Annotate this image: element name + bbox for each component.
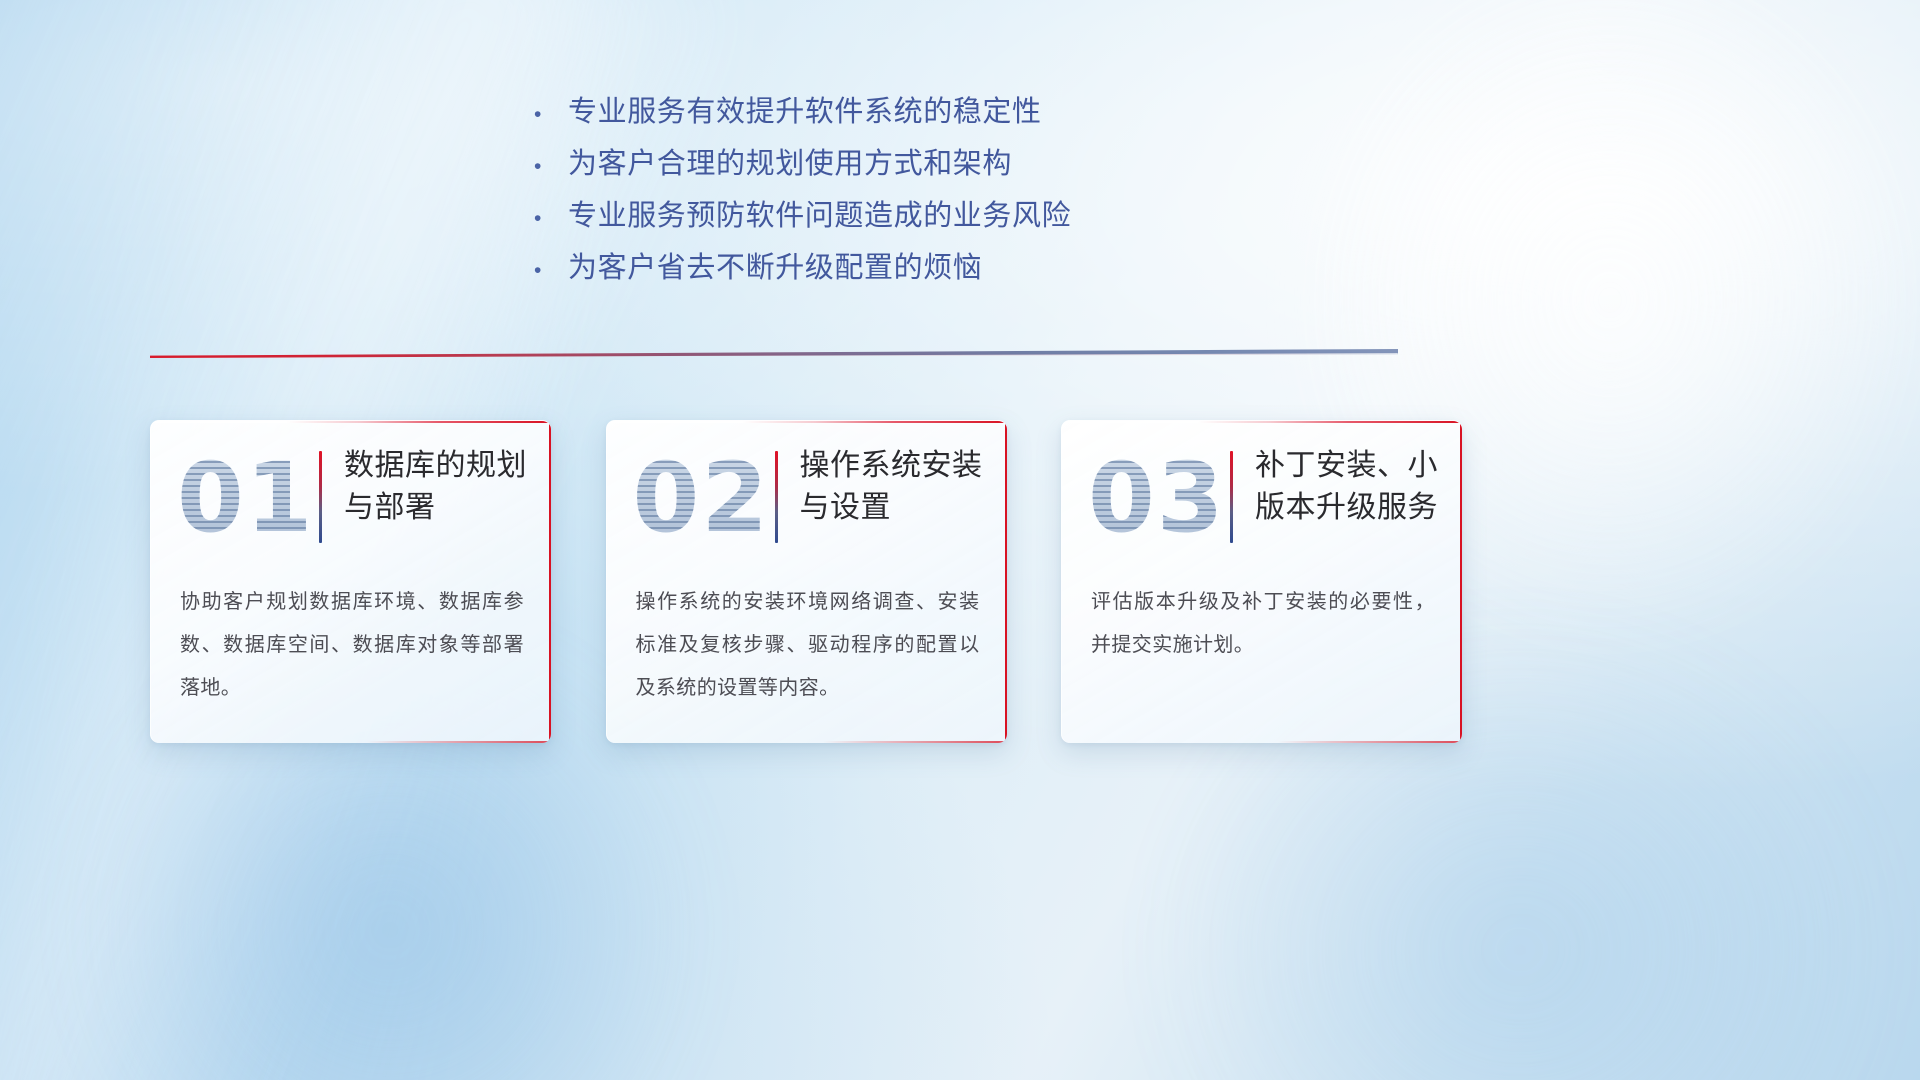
section-divider	[150, 349, 1398, 358]
card-title: 操作系统安装与设置	[800, 445, 991, 529]
card-header: 02 操作系统安装与设置	[607, 421, 1007, 573]
list-item: • 专业服务预防软件问题造成的业务风险	[534, 192, 1394, 244]
card-bottom-accent	[823, 741, 1007, 743]
bullet-point-icon: •	[534, 260, 568, 281]
bullet-point-icon: •	[534, 104, 568, 125]
list-item: • 为客户省去不断升级配置的烦恼	[534, 244, 1394, 296]
card-description: 操作系统的安装环境网络调查、安装标准及复核步骤、驱动程序的配置以及系统的设置等内…	[636, 581, 980, 710]
list-item-label: 专业服务预防软件问题造成的业务风险	[568, 192, 1071, 234]
card-title-accent-bar	[775, 451, 778, 543]
card-bottom-accent	[1278, 741, 1462, 743]
card-header: 03 补丁安装、小版本升级服务	[1062, 421, 1462, 573]
card-title-wrap: 操作系统安装与设置	[775, 445, 991, 543]
card-header: 01 数据库的规划与部署	[151, 421, 551, 573]
card-number-watermark: 01	[177, 443, 315, 553]
list-item: • 专业服务有效提升软件系统的稳定性	[534, 88, 1394, 140]
divider-line	[150, 349, 1398, 358]
bullet-point-icon: •	[534, 156, 568, 177]
card-title-accent-bar	[319, 451, 322, 543]
card-title-accent-bar	[1230, 451, 1233, 543]
card-title-wrap: 补丁安装、小版本升级服务	[1230, 445, 1446, 543]
list-item-label: 为客户合理的规划使用方式和架构	[568, 140, 1012, 182]
list-item-label: 为客户省去不断升级配置的烦恼	[568, 244, 982, 286]
card-description: 评估版本升级及补丁安装的必要性，并提交实施计划。	[1091, 581, 1435, 667]
list-item-label: 专业服务有效提升软件系统的稳定性	[568, 88, 1042, 130]
service-card[interactable]: 01 数据库的规划与部署 协助客户规划数据库环境、数据库参数、数据库空间、数据库…	[150, 420, 551, 743]
card-description: 协助客户规划数据库环境、数据库参数、数据库空间、数据库对象等部署落地。	[180, 581, 524, 710]
card-title: 补丁安装、小版本升级服务	[1255, 445, 1446, 529]
card-number-watermark: 03	[1088, 443, 1226, 553]
list-item: • 为客户合理的规划使用方式和架构	[534, 140, 1394, 192]
service-card-group: 01 数据库的规划与部署 协助客户规划数据库环境、数据库参数、数据库空间、数据库…	[150, 420, 1462, 745]
bullet-point-icon: •	[534, 208, 568, 229]
slide-canvas: • 专业服务有效提升软件系统的稳定性 • 为客户合理的规划使用方式和架构 • 专…	[0, 0, 1920, 1080]
card-number-watermark: 02	[633, 443, 771, 553]
card-title-wrap: 数据库的规划与部署	[319, 445, 535, 543]
card-title: 数据库的规划与部署	[344, 445, 535, 529]
service-card[interactable]: 03 补丁安装、小版本升级服务 评估版本升级及补丁安装的必要性，并提交实施计划。	[1061, 420, 1462, 743]
benefits-bullet-list: • 专业服务有效提升软件系统的稳定性 • 为客户合理的规划使用方式和架构 • 专…	[534, 88, 1394, 296]
card-bottom-accent	[367, 741, 551, 743]
service-card[interactable]: 02 操作系统安装与设置 操作系统的安装环境网络调查、安装标准及复核步骤、驱动程…	[606, 420, 1007, 743]
